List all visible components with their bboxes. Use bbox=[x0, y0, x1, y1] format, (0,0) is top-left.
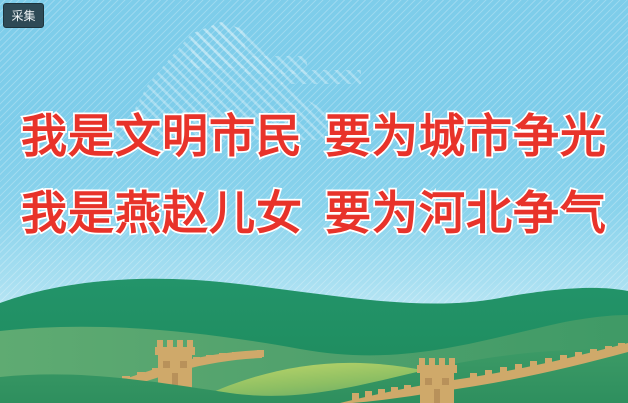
banner-line-1: 我是文明市民要为城市争光 bbox=[0, 100, 628, 166]
banner-line-2-right: 要为河北争气 bbox=[325, 186, 607, 240]
capture-button[interactable]: 采集 bbox=[3, 3, 44, 28]
banner-screenshot: 采集 我是文明市民要为城市争光 我是燕赵儿女要为河北争气 bbox=[0, 0, 628, 403]
banner-line-1-left: 我是文明市民 bbox=[21, 109, 303, 163]
landscape-illustration bbox=[0, 273, 628, 403]
banner-line-2-left: 我是燕赵儿女 bbox=[21, 186, 303, 240]
banner-line-1-right: 要为城市争光 bbox=[325, 109, 607, 163]
banner-line-2: 我是燕赵儿女要为河北争气 bbox=[0, 177, 628, 243]
